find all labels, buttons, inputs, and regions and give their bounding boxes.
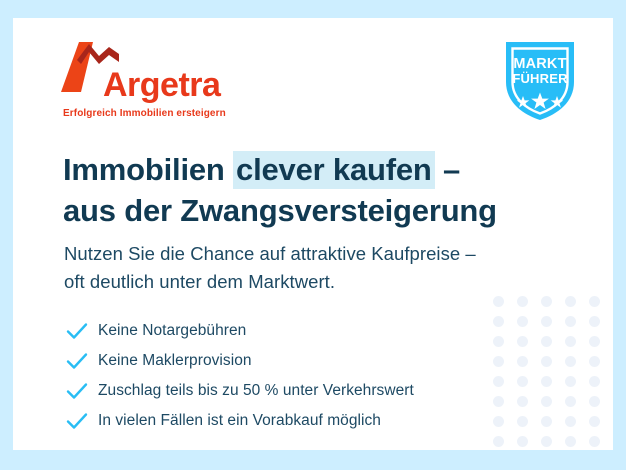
list-item-label: In vielen Fällen ist ein Vorabkauf mögli… [98, 412, 381, 430]
dot-grid-pattern [493, 296, 613, 450]
decorative-dot [517, 356, 528, 367]
decorative-dot [517, 416, 528, 427]
logo-wordmark: Argetra [103, 68, 220, 102]
market-leader-badge: MARKT FÜHRER [500, 36, 580, 124]
decorative-dot [517, 316, 528, 327]
decorative-dot [493, 436, 504, 447]
decorative-dot [565, 396, 576, 407]
decorative-dot [493, 296, 504, 307]
decorative-dot [565, 416, 576, 427]
decorative-dot [517, 436, 528, 447]
headline-line-1: Immobilien clever kaufen – [63, 149, 497, 190]
decorative-dot [517, 396, 528, 407]
page-title: Immobilien clever kaufen – aus der Zwang… [63, 149, 497, 231]
decorative-dot [565, 296, 576, 307]
list-item: Keine Notargebühren [66, 316, 506, 346]
decorative-dot [565, 436, 576, 447]
decorative-dot [517, 336, 528, 347]
decorative-dot [589, 396, 600, 407]
subheadline-line-1: Nutzen Sie die Chance auf attraktive Kau… [64, 240, 476, 268]
decorative-dot [565, 316, 576, 327]
list-item: In vielen Fällen ist ein Vorabkauf mögli… [66, 406, 506, 436]
decorative-dot [541, 436, 552, 447]
subheadline: Nutzen Sie die Chance auf attraktive Kau… [64, 240, 476, 296]
decorative-dot [565, 336, 576, 347]
check-icon [66, 412, 98, 430]
decorative-dot [589, 416, 600, 427]
check-icon [66, 382, 98, 400]
subheadline-line-2: oft deutlich unter dem Marktwert. [64, 268, 476, 296]
headline-line-2: aus der Zwangsversteigerung [63, 190, 497, 231]
headline-pre: Immobilien [63, 152, 233, 187]
list-item: Zuschlag teils bis zu 50 % unter Verkehr… [66, 376, 506, 406]
decorative-dot [589, 336, 600, 347]
decorative-dot [541, 316, 552, 327]
list-item-label: Keine Notargebühren [98, 322, 246, 340]
shield-badge-icon [500, 111, 580, 128]
headline-post: – [435, 152, 460, 187]
check-icon [66, 322, 98, 340]
decorative-dot [541, 396, 552, 407]
decorative-dot [541, 376, 552, 387]
decorative-dot [541, 296, 552, 307]
decorative-dot [589, 296, 600, 307]
decorative-dot [517, 376, 528, 387]
headline-highlight: clever kaufen [233, 151, 435, 189]
benefit-list: Keine Notargebühren Keine Maklerprovisio… [66, 316, 506, 436]
decorative-dot [541, 356, 552, 367]
promo-banner: Argetra Erfolgreich Immobilien ersteiger… [0, 0, 626, 470]
list-item-label: Zuschlag teils bis zu 50 % unter Verkehr… [98, 382, 414, 400]
list-item-label: Keine Maklerprovision [98, 352, 252, 370]
decorative-dot [589, 376, 600, 387]
decorative-dot [589, 316, 600, 327]
decorative-dot [565, 376, 576, 387]
decorative-dot [589, 356, 600, 367]
argetra-logo[interactable]: Argetra Erfolgreich Immobilien ersteiger… [59, 40, 239, 120]
list-item: Keine Maklerprovision [66, 346, 506, 376]
decorative-dot [589, 436, 600, 447]
decorative-dot [565, 356, 576, 367]
decorative-dot [541, 416, 552, 427]
decorative-dot [517, 296, 528, 307]
banner-canvas: Argetra Erfolgreich Immobilien ersteiger… [13, 18, 613, 450]
decorative-dot [541, 336, 552, 347]
check-icon [66, 352, 98, 370]
logo-tagline: Erfolgreich Immobilien ersteigern [63, 108, 226, 119]
